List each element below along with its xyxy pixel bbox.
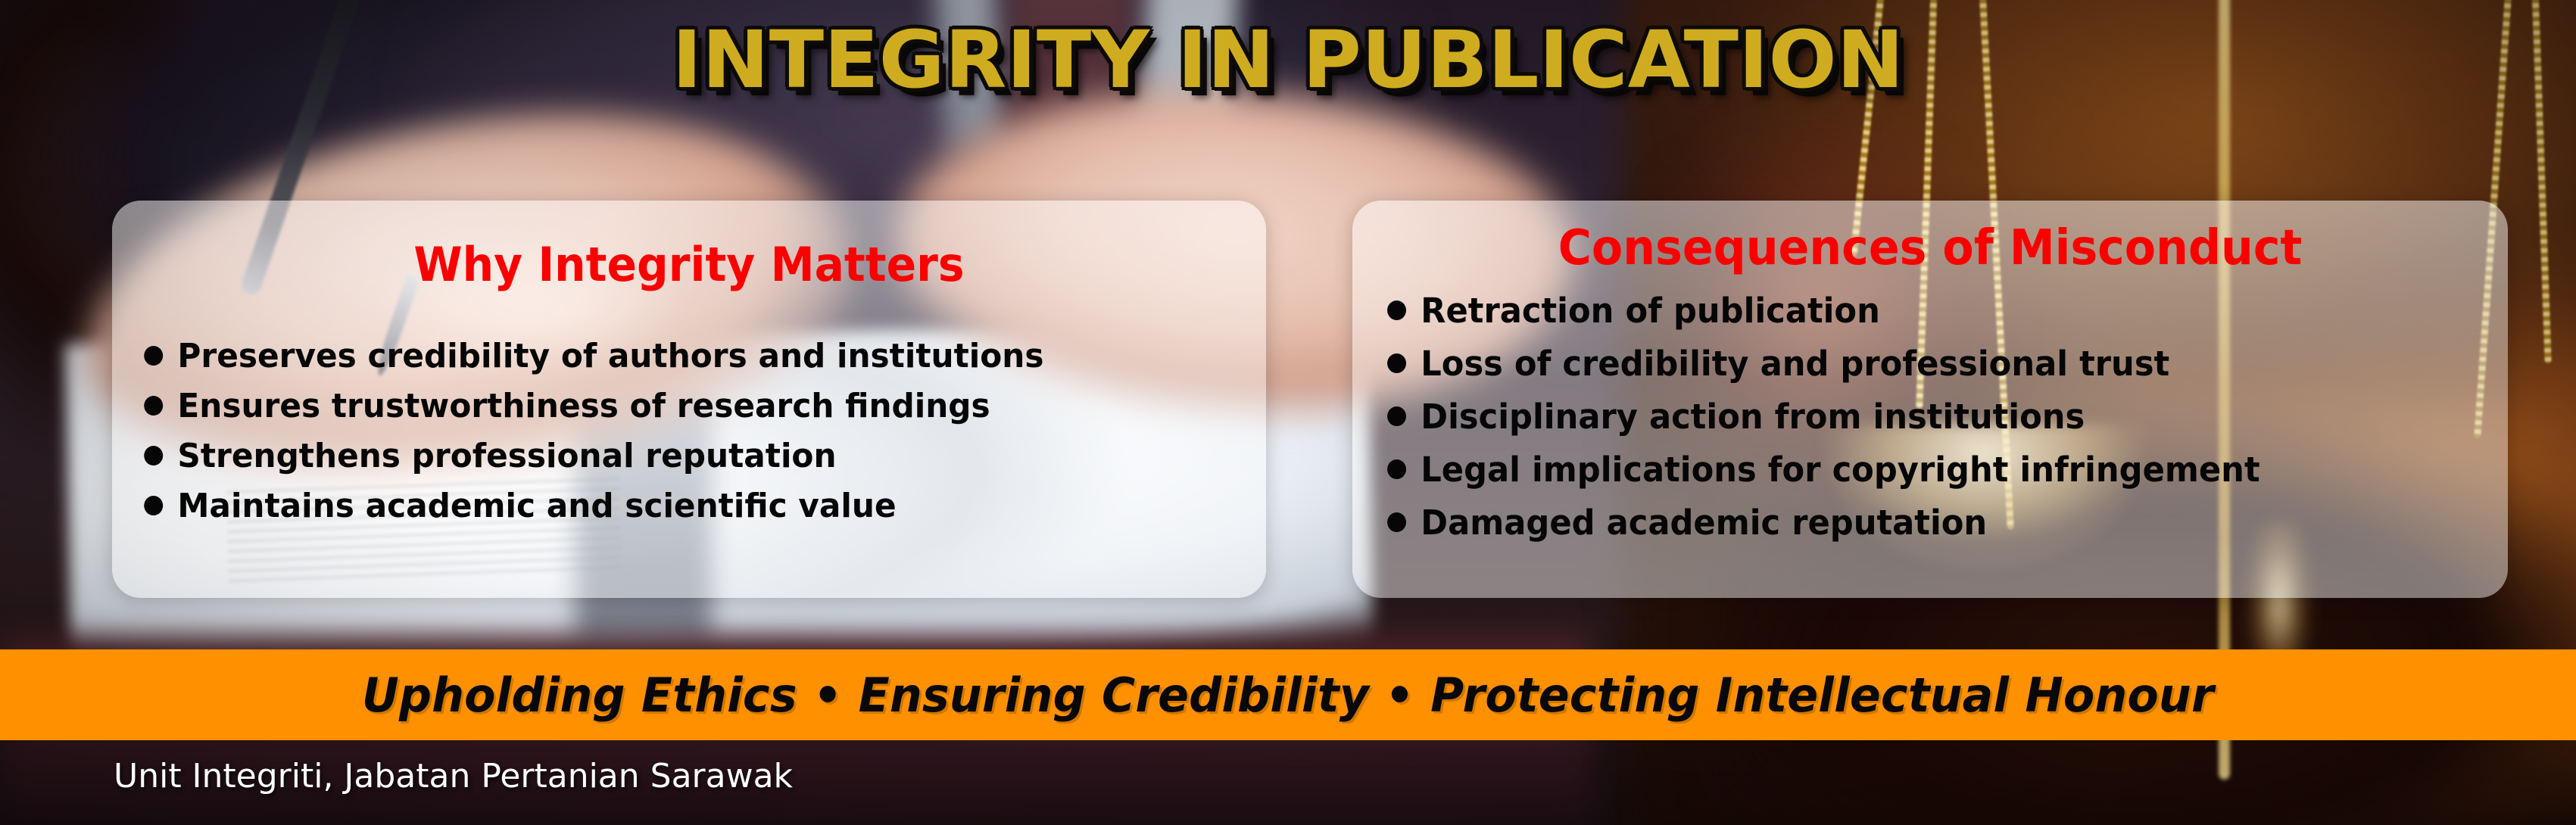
tagline-text: Upholding Ethics • Ensuring Credibility … [362, 668, 2214, 723]
list-item: Strengthens professional reputation [112, 431, 1220, 481]
list-item: Loss of credibility and professional tru… [1352, 337, 2462, 390]
list-item-label: Legal implications for copyright infring… [1421, 450, 2259, 490]
bullet-dot-icon [1387, 512, 1406, 532]
footer-organisation: Unit Integriti, Jabatan Pertanian Sarawa… [114, 757, 793, 795]
bullet-list-why-integrity-matters: Preserves credibility of authors and ins… [112, 331, 1266, 531]
list-item: Preserves credibility of authors and ins… [112, 331, 1220, 381]
bullet-dot-icon [1387, 406, 1406, 426]
card-why-integrity-matters: Why Integrity Matters Preserves credibil… [112, 201, 1266, 598]
list-item-label: Retraction of publication [1421, 291, 1880, 331]
bullet-list-consequences-of-misconduct: Retraction of publicationLoss of credibi… [1352, 284, 2508, 549]
list-item: Ensures trustworthiness of research find… [112, 381, 1220, 431]
list-item-label: Loss of credibility and professional tru… [1421, 344, 2169, 384]
list-item-label: Maintains academic and scientific value [177, 487, 896, 525]
poster-banner: INTEGRITY IN PUBLICATION Why Integrity M… [0, 0, 2576, 825]
card-consequences-of-misconduct: Consequences of Misconduct Retraction of… [1352, 201, 2508, 598]
bullet-dot-icon [144, 446, 163, 465]
list-item: Maintains academic and scientific value [112, 481, 1220, 531]
list-item-label: Disciplinary action from institutions [1421, 397, 2085, 437]
bullet-dot-icon [144, 346, 163, 366]
bullet-dot-icon [1387, 353, 1406, 373]
list-item: Legal implications for copyright infring… [1352, 443, 2462, 496]
page-title: INTEGRITY IN PUBLICATION [0, 14, 2576, 106]
bullet-dot-icon [1387, 459, 1406, 479]
list-item: Disciplinary action from institutions [1352, 390, 2462, 443]
list-item-label: Preserves credibility of authors and ins… [177, 337, 1043, 375]
list-item-label: Damaged academic reputation [1421, 503, 1987, 543]
list-item: Damaged academic reputation [1352, 496, 2462, 549]
list-item-label: Strengthens professional reputation [177, 437, 836, 475]
list-item: Retraction of publication [1352, 284, 2462, 337]
card-heading-why-integrity-matters: Why Integrity Matters [147, 237, 1232, 292]
card-heading-consequences-of-misconduct: Consequences of Misconduct [1387, 220, 2473, 276]
list-item-label: Ensures trustworthiness of research find… [177, 387, 990, 425]
bullet-dot-icon [144, 396, 163, 416]
tagline-banner: Upholding Ethics • Ensuring Credibility … [0, 649, 2576, 740]
bullet-dot-icon [144, 496, 163, 515]
bullet-dot-icon [1387, 300, 1406, 320]
